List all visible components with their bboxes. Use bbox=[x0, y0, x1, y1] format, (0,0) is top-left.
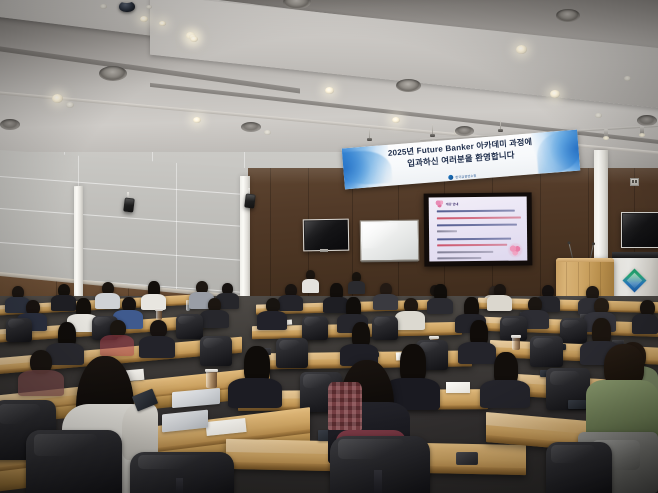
slide-bullet-line bbox=[437, 257, 481, 259]
security-camera-icon bbox=[119, 1, 135, 12]
wall-monitor-right[interactable] bbox=[621, 212, 658, 248]
office-chair[interactable] bbox=[6, 318, 32, 342]
attendee-body bbox=[51, 295, 76, 311]
track-light bbox=[640, 126, 644, 134]
attendee-body bbox=[632, 314, 658, 334]
wall-control-plate[interactable] bbox=[630, 178, 639, 186]
flower-icon bbox=[436, 200, 444, 207]
iced-coffee-cup bbox=[512, 337, 520, 350]
office-chair[interactable] bbox=[176, 314, 203, 339]
floral-stamp-icon bbox=[507, 243, 523, 258]
attendee-body bbox=[200, 310, 229, 328]
downlight bbox=[595, 113, 602, 118]
wall-monitor-left[interactable] bbox=[303, 219, 350, 252]
ceiling-vent bbox=[455, 126, 474, 136]
slide-bullet-line bbox=[437, 230, 457, 232]
organization-name: 한국금융연수원 bbox=[455, 173, 477, 180]
attendee-body bbox=[228, 378, 282, 408]
attendee-body bbox=[18, 370, 64, 396]
attendee-body bbox=[373, 294, 398, 310]
attendee-body bbox=[278, 295, 303, 311]
wall-pillar bbox=[74, 186, 83, 306]
downlight bbox=[624, 76, 631, 81]
office-chair[interactable] bbox=[546, 442, 612, 493]
slide-bullet-line bbox=[437, 217, 521, 219]
office-chair[interactable] bbox=[560, 318, 587, 343]
organization-logo: 한국금융연수원 bbox=[448, 173, 477, 180]
office-chair[interactable] bbox=[302, 316, 328, 340]
downlight bbox=[550, 90, 560, 98]
slide-bullet-line bbox=[437, 210, 515, 212]
attendee-body bbox=[100, 335, 134, 356]
slide-bullet-line bbox=[437, 224, 517, 226]
slide-title: 개강 안내 bbox=[446, 201, 459, 206]
office-chair[interactable] bbox=[200, 336, 232, 366]
attendee-body bbox=[328, 382, 362, 430]
attendee-body bbox=[95, 293, 120, 309]
projected-slide: 개강 안내 bbox=[429, 196, 528, 261]
attendee-body bbox=[427, 298, 453, 314]
ceiling-vent bbox=[241, 122, 261, 132]
wall-speaker bbox=[244, 193, 256, 208]
ceiling-speaker bbox=[556, 9, 580, 22]
logo-mark-icon bbox=[448, 175, 453, 180]
track-light bbox=[604, 129, 608, 137]
attendee-body bbox=[480, 380, 530, 408]
office-chair[interactable] bbox=[372, 316, 398, 340]
downlight bbox=[190, 36, 198, 42]
whiteboard bbox=[360, 220, 420, 262]
chair-post bbox=[374, 470, 382, 493]
downlight bbox=[66, 102, 74, 108]
downlight bbox=[392, 117, 400, 123]
attendee-body bbox=[139, 336, 175, 358]
ceiling-speaker bbox=[396, 79, 421, 92]
chair-post bbox=[176, 478, 183, 493]
wall-speaker bbox=[123, 197, 135, 212]
lecture-hall-photo: 2025년 Future Banker 아카데미 과정에 입과하신 여러분을 환… bbox=[0, 0, 658, 493]
water-bottle bbox=[186, 300, 190, 311]
attendee-body bbox=[458, 342, 496, 364]
attendee-body bbox=[348, 281, 365, 294]
ceiling-band bbox=[150, 0, 658, 113]
downlight bbox=[52, 94, 63, 103]
downlight bbox=[264, 130, 271, 135]
paper-handout bbox=[446, 382, 470, 393]
office-chair[interactable] bbox=[26, 430, 122, 493]
desk-power-outlet bbox=[456, 452, 478, 465]
banner-clip bbox=[367, 138, 372, 141]
banner-clip bbox=[430, 134, 435, 137]
downlight bbox=[193, 117, 201, 123]
monitor-screen bbox=[623, 214, 658, 246]
downlight bbox=[159, 21, 166, 26]
monitor-screen bbox=[305, 221, 347, 250]
projection-screen: 개강 안내 bbox=[424, 192, 533, 266]
attendee-body bbox=[395, 311, 425, 330]
downlight bbox=[516, 45, 527, 54]
banner-clip bbox=[498, 129, 503, 132]
office-chair[interactable] bbox=[530, 336, 563, 367]
wall-pillar bbox=[594, 150, 608, 268]
downlight bbox=[146, 5, 152, 9]
downlight bbox=[100, 4, 107, 9]
whiteboard-glare bbox=[363, 223, 398, 248]
downlight bbox=[140, 16, 148, 22]
slide-bullet-line bbox=[437, 238, 511, 240]
iced-coffee-cup bbox=[156, 310, 162, 320]
attendee-body bbox=[302, 279, 319, 293]
slide-bullet-line bbox=[437, 251, 493, 253]
attendee-body bbox=[257, 311, 287, 330]
downlight bbox=[325, 87, 334, 94]
ceiling-vent bbox=[0, 119, 20, 130]
iced-coffee-cup bbox=[206, 371, 217, 388]
slide-bullet-line bbox=[437, 244, 507, 246]
ceiling-speaker bbox=[99, 66, 127, 81]
monitor-mount bbox=[320, 249, 328, 252]
attendee-body bbox=[487, 295, 512, 311]
office-chair[interactable] bbox=[276, 338, 308, 368]
smartphone bbox=[568, 400, 586, 409]
